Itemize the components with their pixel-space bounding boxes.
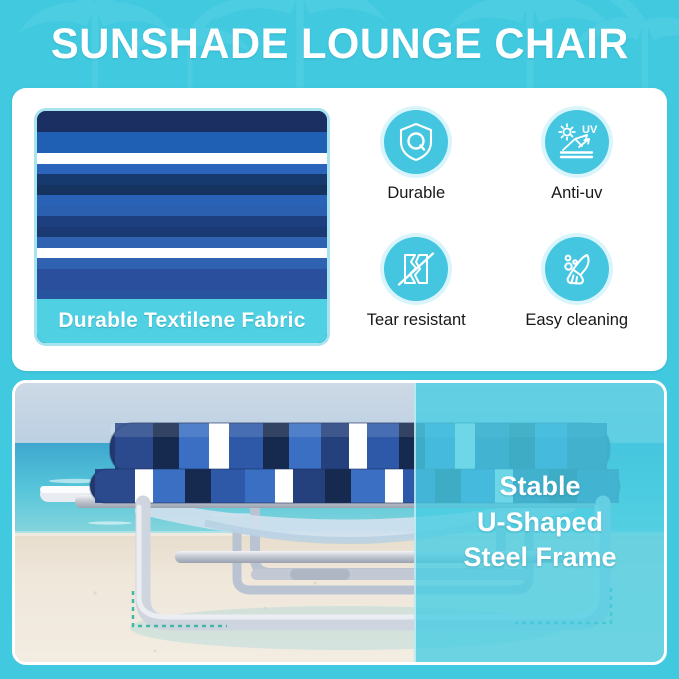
callout-line-1: Stable: [499, 469, 580, 505]
fabric-stripe: [37, 132, 327, 143]
fabric-stripe: [37, 258, 327, 269]
page-title: SUNSHADE LOUNGE CHAIR: [51, 20, 629, 69]
fabric-stripe: [37, 216, 327, 227]
infographic-page: SUNSHADE LOUNGE CHAIR Durable Textilene …: [0, 0, 679, 679]
feature-easy-cleaning[interactable]: Easy cleaning: [497, 231, 658, 358]
fabric-swatch-section: Durable Textilene Fabric: [12, 88, 330, 371]
callout-line-2: U-Shaped: [477, 505, 603, 541]
fabric-stripe: [37, 143, 327, 154]
feature-tear-resistant[interactable]: Tear resistant: [336, 231, 497, 358]
fabric-stripe: [37, 237, 327, 248]
fabric-stripe: [37, 164, 327, 175]
uv-icon-text: UV: [582, 124, 598, 136]
fabric-stripe: [37, 280, 327, 291]
fabric-stripe: [37, 248, 327, 259]
shield-quality-icon: [384, 110, 448, 174]
feature-label: Durable: [387, 184, 445, 203]
feature-label: Tear resistant: [367, 311, 466, 330]
callout-line-3: Steel Frame: [463, 540, 616, 576]
fabric-stripe: [37, 153, 327, 164]
features-card: Durable Textilene Fabric Durable: [12, 88, 667, 371]
fabric-label-band: Durable Textilene Fabric: [37, 299, 327, 343]
fabric-stripe: [37, 122, 327, 133]
lounge-chair-on-beach-photo: Stable U-Shaped Steel Frame: [12, 380, 667, 665]
feature-durable[interactable]: Durable: [336, 104, 497, 231]
feature-label: Anti-uv: [551, 184, 602, 203]
feature-anti-uv[interactable]: UV Anti-uv: [497, 104, 658, 231]
feature-grid: Durable UV: [336, 104, 657, 357]
fabric-stripe: [37, 227, 327, 238]
no-tear-fabric-icon: [384, 237, 448, 301]
steel-frame-callout: Stable U-Shaped Steel Frame: [414, 383, 664, 662]
fabric-stripe: [37, 269, 327, 280]
fabric-label-text: Durable Textilene Fabric: [58, 309, 305, 333]
fabric-stripe: [37, 206, 327, 217]
cleaning-brush-icon: [545, 237, 609, 301]
feature-label: Easy cleaning: [525, 311, 628, 330]
fabric-stripe: [37, 111, 327, 122]
anti-uv-sun-icon: UV: [545, 110, 609, 174]
fabric-stripe: [37, 185, 327, 196]
feature-grid-section: Durable UV: [330, 88, 667, 371]
fabric-swatch: Durable Textilene Fabric: [34, 108, 330, 346]
fabric-stripe: [37, 195, 327, 206]
fabric-stripe: [37, 174, 327, 185]
header-banner: SUNSHADE LOUNGE CHAIR: [0, 0, 679, 88]
